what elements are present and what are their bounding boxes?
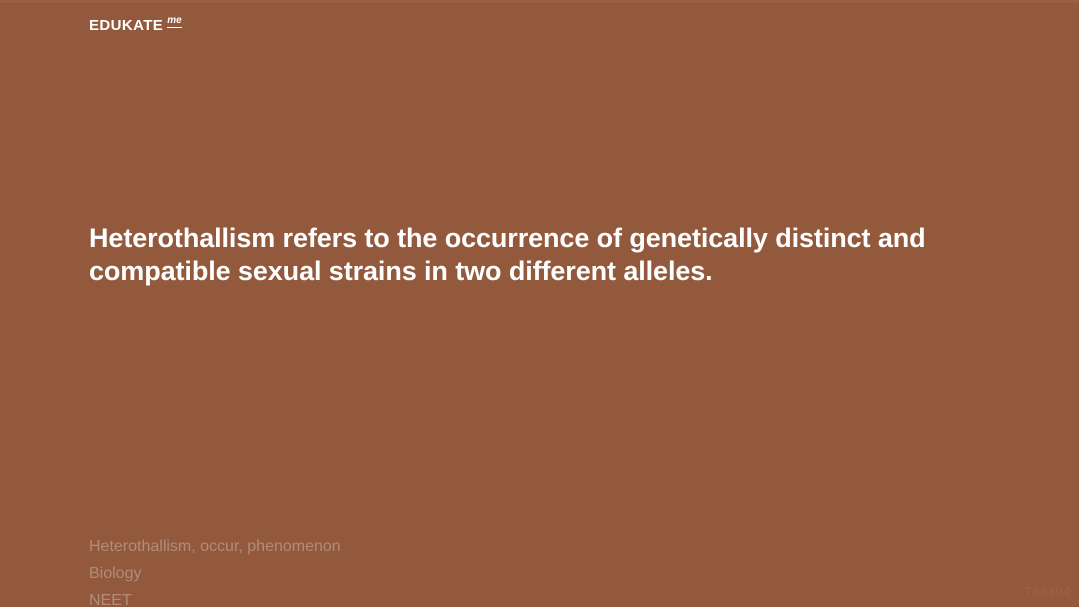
statement-heading: Heterothallism refers to the occurrence …	[89, 222, 989, 288]
metadata-subject: Biology	[89, 560, 341, 587]
statement-line-2: compatible sexual strains in two differe…	[89, 255, 989, 288]
reference-id: 768404	[1025, 584, 1071, 599]
metadata-exam: NEET	[89, 587, 341, 607]
slide-metadata: Heterothallism, occur, phenomenon Biolog…	[89, 533, 341, 607]
top-edge-highlight	[0, 0, 1079, 3]
metadata-tags: Heterothallism, occur, phenomenon	[89, 533, 341, 560]
brand-suffix-text: me	[167, 16, 181, 28]
brand-name-text: EDUKATE	[89, 18, 163, 33]
statement-line-1: Heterothallism refers to the occurrence …	[89, 222, 989, 255]
brand-logo[interactable]: EDUKATE me	[89, 18, 182, 33]
slide-canvas: EDUKATE me Heterothallism refers to the …	[0, 0, 1079, 607]
